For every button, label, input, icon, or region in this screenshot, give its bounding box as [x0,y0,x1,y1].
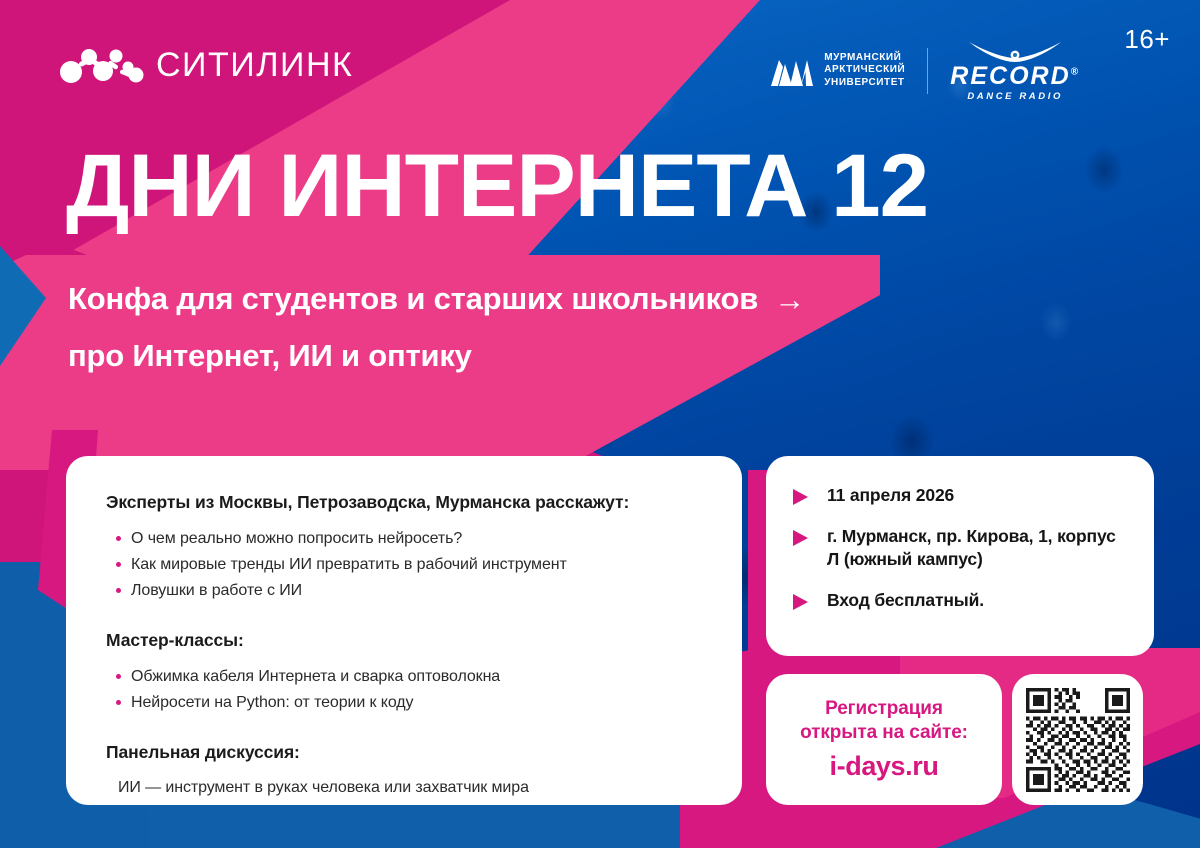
poster-header: СИТИЛИНК МУРМАНСКИЙ АРКТИЧЕСКИЙ УНИВЕРСИ… [0,0,1200,110]
list-item: Как мировые тренды ИИ превратить в рабоч… [116,552,702,578]
detail-row-location: г. Мурманск, пр. Кирова, 1, корпус Л (юж… [792,525,1130,570]
list-item: Нейросети на Python: от теории к коду [116,690,702,716]
detail-date: 11 апреля 2026 [827,484,954,506]
partner-logos: МУРМАНСКИЙ АРКТИЧЕСКИЙ УНИВЕРСИТЕТ RECOR… [770,40,1080,102]
record-word-text: RECORD [950,62,1070,90]
triangle-right-icon [792,593,809,611]
mau-name: МУРМАНСКИЙ АРКТИЧЕСКИЙ УНИВЕРСИТЕТ [824,52,905,90]
mau-mountain-icon [770,54,814,88]
mau-line-3: УНИВЕРСИТЕТ [824,77,905,90]
program-card: Эксперты из Москвы, Петрозаводска, Мурма… [66,456,742,805]
page-title: ДНИ ИНТЕРНЕТА 12 [66,143,928,228]
detail-row-date: 11 апреля 2026 [792,484,1130,506]
registration-card[interactable]: Регистрация открыта на сайте: i-days.ru [766,674,1002,805]
event-details-card: 11 апреля 2026 г. Мурманск, пр. Кирова, … [766,456,1154,656]
list-item: О чем реально можно попросить нейросеть? [116,526,702,552]
record-radio-logo: RECORD® DANCE RADIO [950,40,1080,102]
experts-heading: Эксперты из Москвы, Петрозаводска, Мурма… [106,492,702,513]
hero-subtitle-line-2: про Интернет, ИИ и оптику [68,338,472,374]
poster-root: СИТИЛИНК МУРМАНСКИЙ АРКТИЧЕСКИЙ УНИВЕРСИ… [0,0,1200,848]
list-item: Обжимка кабеля Интернета и сварка оптово… [116,664,702,690]
record-wordmark: RECORD® [950,65,1080,88]
detail-location: г. Мурманск, пр. Кирова, 1, корпус Л (юж… [827,525,1130,570]
panel-heading: Панельная дискуссия: [106,742,702,763]
panel-text: ИИ — инструмент в руках человека или зах… [118,779,702,797]
list-item: Ловушки в работе с ИИ [116,578,702,604]
qr-code-icon[interactable] [1026,688,1130,792]
hero-subtitle-line-1: Конфа для студентов и старших школьников… [68,281,805,317]
registration-url[interactable]: i-days.ru [830,751,939,782]
registration-line-1: Регистрация [825,697,943,720]
record-trademark: ® [1071,67,1080,78]
triangle-right-icon [792,488,809,506]
masterclass-list: Обжимка кабеля Интернета и сварка оптово… [116,664,702,716]
record-tagline: DANCE RADIO [967,91,1063,102]
citilink-molecule-icon [58,44,144,86]
registration-line-2: открыта на сайте: [800,721,968,744]
citilink-wordmark: СИТИЛИНК [156,48,353,82]
detail-row-entry: Вход бесплатный. [792,589,1130,611]
hero-subtitle-text-1: Конфа для студентов и старших школьников [68,281,758,317]
record-swoosh-icon [967,40,1063,64]
qr-card[interactable] [1012,674,1143,805]
experts-list: О чем реально можно попросить нейросеть?… [116,526,702,604]
citilink-logo: СИТИЛИНК [58,44,353,86]
mau-line-1: МУРМАНСКИЙ [824,52,905,65]
mau-line-2: АРКТИЧЕСКИЙ [824,64,905,77]
masterclass-heading: Мастер-классы: [106,630,702,651]
mau-logo: МУРМАНСКИЙ АРКТИЧЕСКИЙ УНИВЕРСИТЕТ [770,52,905,90]
triangle-right-icon [792,529,809,547]
arrow-right-icon: → [774,284,805,315]
detail-entry: Вход бесплатный. [827,589,984,611]
logo-divider [927,48,928,94]
age-rating-badge: 16+ [1124,24,1170,55]
